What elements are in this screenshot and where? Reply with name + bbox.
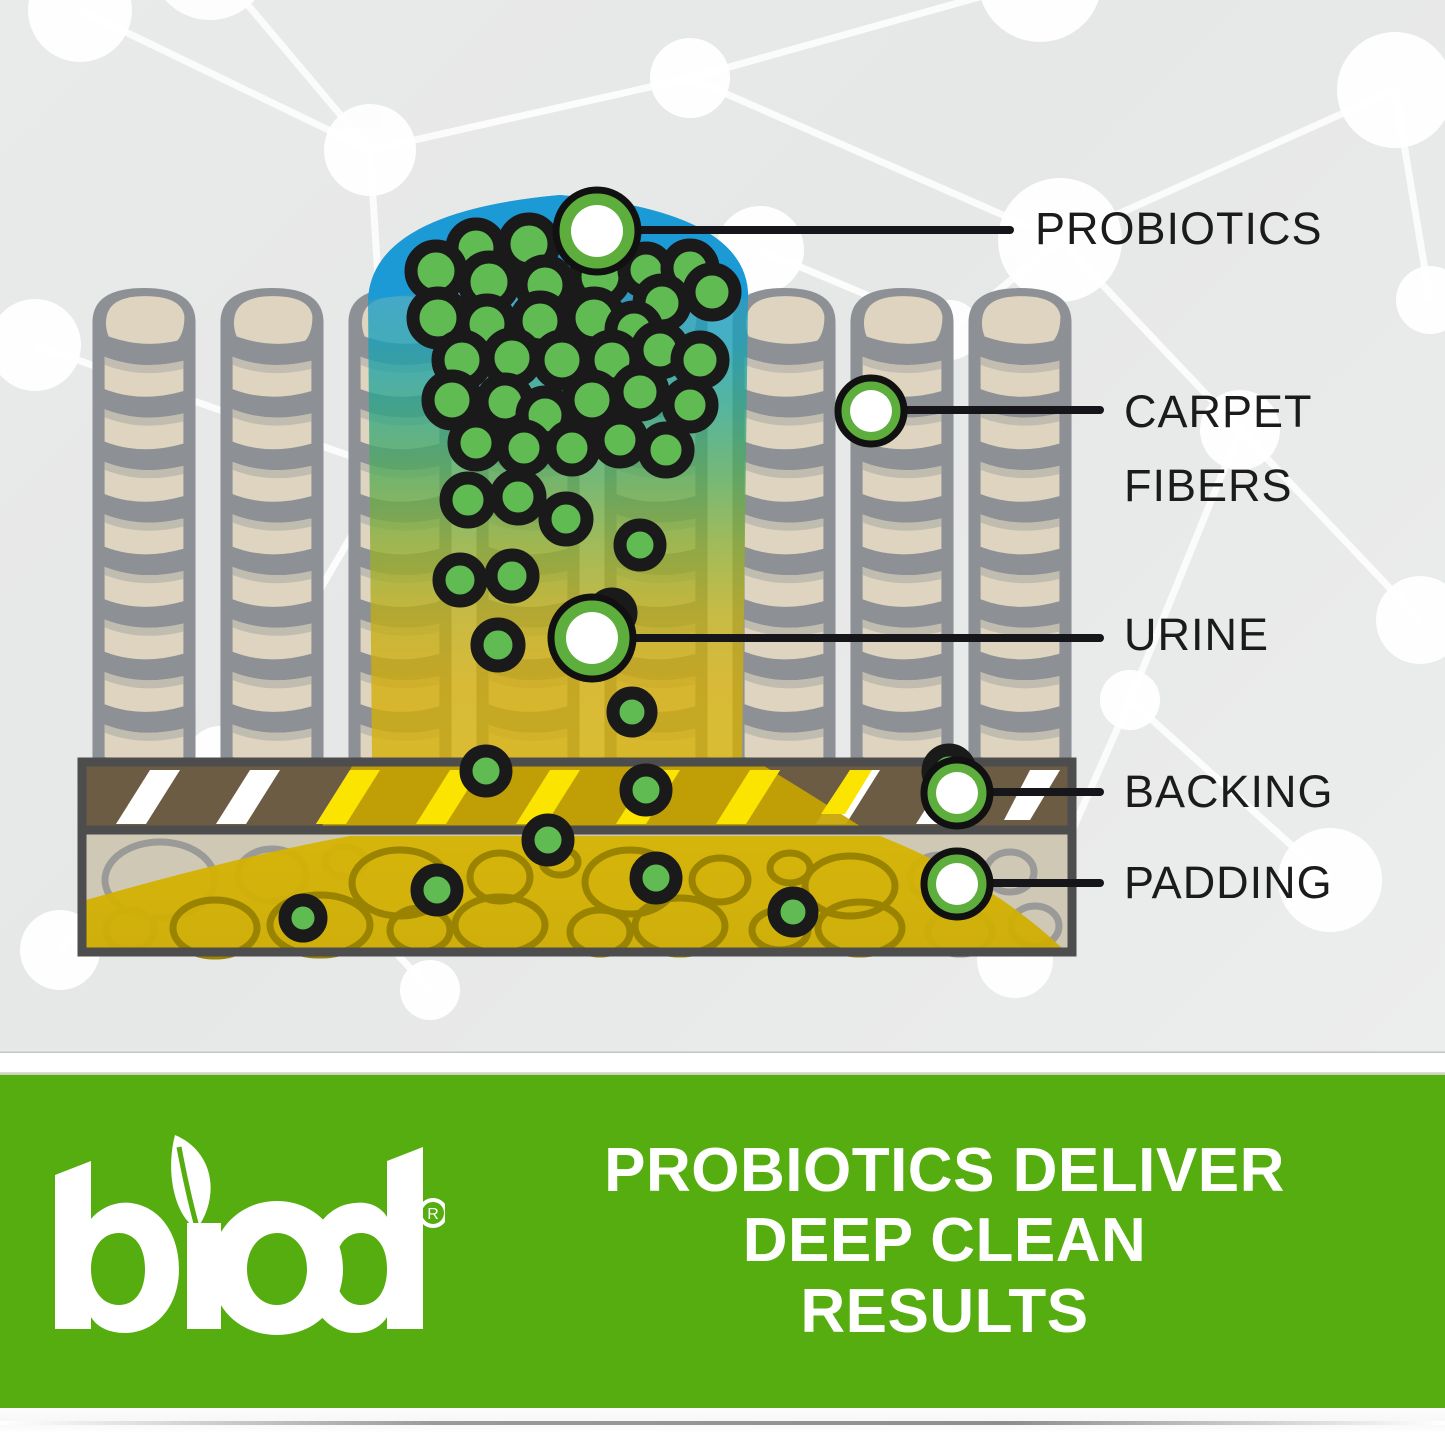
label-carpet-fibers-line1: CARPET	[1124, 388, 1313, 436]
callout-marker-backing[interactable]	[924, 760, 990, 826]
infographic-root: PROBIOTICS CARPET FIBERS URINE BACKING P…	[0, 0, 1445, 1434]
diagram-panel: PROBIOTICS CARPET FIBERS URINE BACKING P…	[0, 0, 1445, 1053]
bottom-divider-line	[0, 1421, 1445, 1425]
tagline-line-3: RESULTS	[470, 1277, 1419, 1347]
callout-marker-carpet-fibers[interactable]	[838, 378, 904, 444]
callout-marker-urine[interactable]	[551, 597, 633, 679]
callout-marker-probiotics[interactable]	[556, 190, 638, 272]
label-padding: PADDING	[1124, 859, 1333, 907]
bioda-wordmark: R	[25, 1117, 445, 1367]
tagline-line-1: PROBIOTICS DELIVER	[470, 1136, 1419, 1206]
tagline-line-2: DEEP CLEAN	[470, 1206, 1419, 1276]
label-probiotics: PROBIOTICS	[1035, 205, 1323, 253]
bioda-logo[interactable]: R	[0, 1075, 470, 1408]
label-backing: BACKING	[1124, 768, 1334, 816]
banner-tagline: PROBIOTICS DELIVER DEEP CLEAN RESULTS	[470, 1136, 1445, 1346]
callout-marker-padding[interactable]	[924, 851, 990, 917]
brand-banner: R PROBIOTICS DELIVER DEEP CLEAN RESULTS	[0, 1075, 1445, 1408]
label-carpet-fibers-line2: FIBERS	[1124, 462, 1293, 510]
svg-text:R: R	[427, 1206, 439, 1223]
label-urine: URINE	[1124, 611, 1269, 659]
